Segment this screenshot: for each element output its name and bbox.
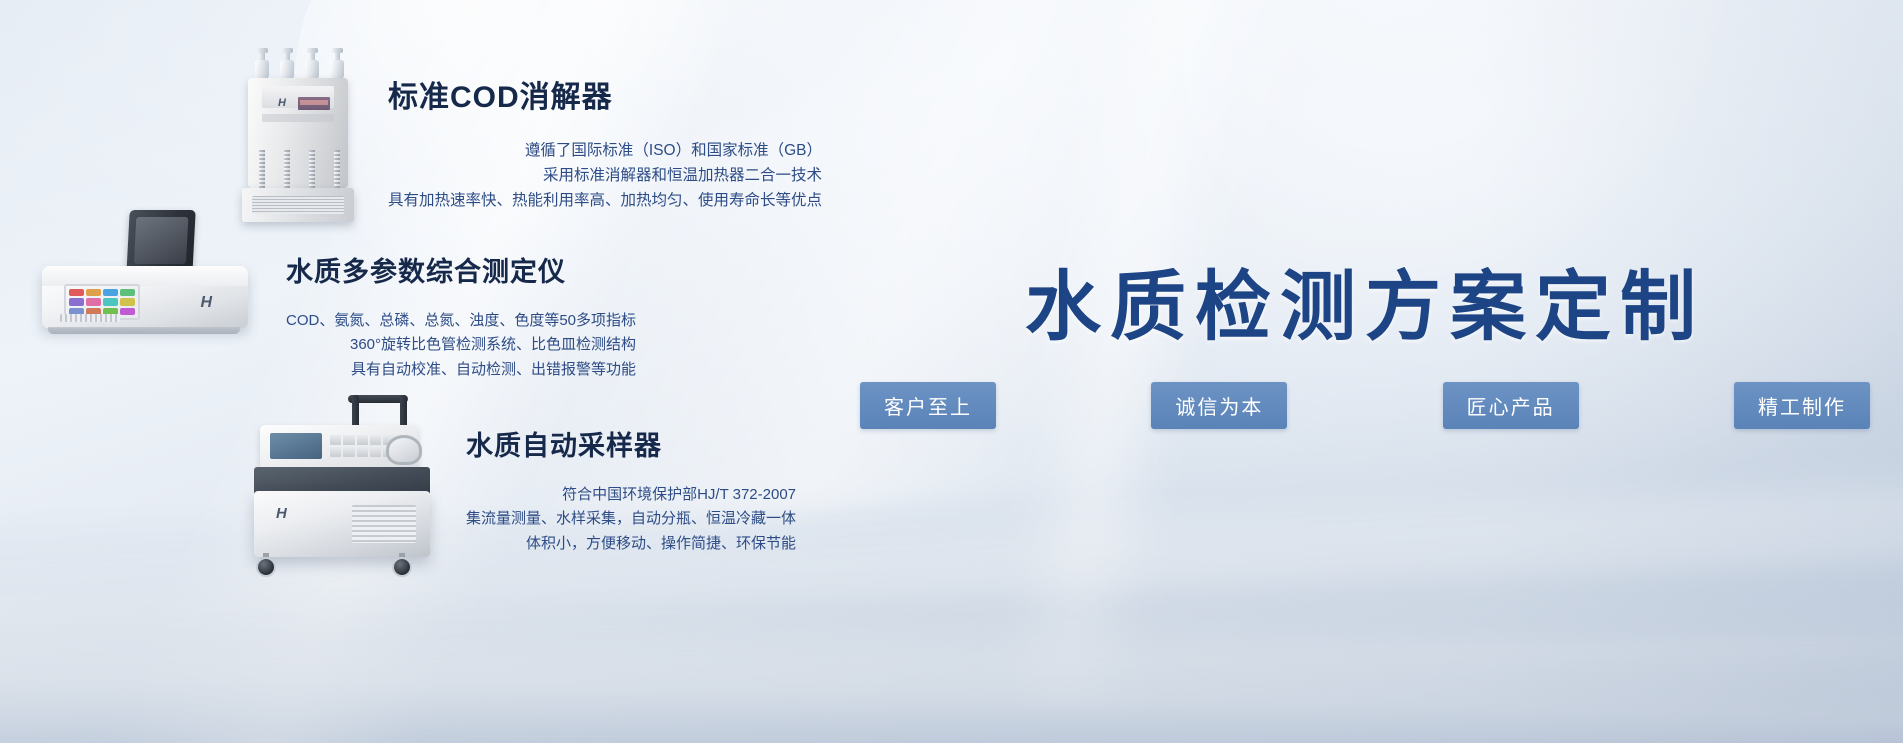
product-description: COD、氨氮、总磷、总氮、浊度、色度等50多项指标 360°旋转比色管检测系统、…	[286, 309, 636, 382]
sampler-display-screen	[270, 433, 322, 459]
product-block-multiparameter-analyzer: 水质多参数综合测定仪 COD、氨氮、总磷、总氮、浊度、色度等50多项指标 360…	[286, 250, 636, 382]
product-description: 遵循了国际标准（ISO）和国家标准（GB） 采用标准消解器和恒温加热器二合一技术…	[388, 138, 822, 213]
cod-display-screen	[298, 97, 330, 110]
slogan-tag-customer-first[interactable]: 客户至上	[860, 382, 996, 429]
right-shade	[1483, 0, 1903, 743]
product-description-line: 具有自动校准、自动检测、出错报警等功能	[286, 358, 636, 382]
digestion-tube	[330, 48, 344, 80]
product-description-line: 具有加热速率快、热能利用率高、加热均匀、使用寿命长等优点	[388, 188, 822, 213]
wave-3	[0, 589, 1903, 743]
auto-water-sampler-image: H	[240, 395, 450, 575]
analyzer-body: H	[42, 266, 248, 328]
slogan-tag-fine-manufacturing[interactable]: 精工制作	[1734, 382, 1870, 429]
multiparameter-analyzer-image: H	[30, 210, 260, 340]
product-description: 符合中国环境保护部HJ/T 372-2007 集流量测量、水样采集，自动分瓶、恒…	[466, 483, 796, 556]
banner-headline: 水质检测方案定制	[860, 245, 1870, 355]
wave-2	[0, 581, 1903, 743]
analyzer-top-surface	[42, 266, 248, 286]
cod-digester-image: H	[238, 48, 358, 218]
sampler-caster-wheel	[256, 557, 276, 577]
cod-vent-grille	[252, 196, 344, 214]
brand-logo-mark: H	[200, 294, 212, 312]
product-title: 水质多参数综合测定仪	[286, 250, 636, 289]
product-description-line: 符合中国环境保护部HJ/T 372-2007	[466, 483, 796, 507]
product-description-line: COD、氨氮、总磷、总氮、浊度、色度等50多项指标	[286, 309, 636, 333]
analyzer-base	[48, 327, 240, 334]
slogan-tag-list: 客户至上 诚信为本 匠心产品 精工制作	[860, 382, 1870, 429]
product-block-cod-digester: 标准COD消解器 遵循了国际标准（ISO）和国家标准（GB） 采用标准消解器和恒…	[388, 72, 822, 213]
sampler-refrigerated-cabinet: H	[254, 491, 430, 557]
slogan-tag-integrity[interactable]: 诚信为本	[1151, 382, 1287, 429]
water-quality-banner: H H	[0, 0, 1903, 743]
sampler-peristaltic-pump	[386, 435, 422, 465]
product-title: 水质自动采样器	[466, 424, 796, 463]
product-description-line: 采用标准消解器和恒温加热器二合一技术	[388, 163, 822, 188]
product-block-auto-water-sampler: 水质自动采样器 符合中国环境保护部HJ/T 372-2007 集流量测量、水样采…	[466, 424, 796, 556]
sampler-vent-grille	[352, 505, 416, 543]
sampler-caster-wheel	[392, 557, 412, 577]
product-description-line: 360°旋转比色管检测系统、比色皿检测结构	[286, 333, 636, 357]
analyzer-vents	[60, 314, 120, 322]
digestion-tube	[305, 48, 319, 80]
brand-logo-mark: H	[278, 97, 292, 111]
digestion-tube	[255, 48, 269, 80]
digestion-tube	[280, 48, 294, 80]
brand-logo-mark: H	[276, 505, 287, 522]
cod-control-panel: H	[262, 86, 334, 108]
cod-label-strip	[262, 114, 334, 122]
product-description-line: 集流量测量、水样采集，自动分瓶、恒温冷藏一体	[466, 507, 796, 531]
product-title: 标准COD消解器	[388, 72, 822, 116]
light-sweep-3	[696, 0, 1587, 743]
product-description-line: 遵循了国际标准（ISO）和国家标准（GB）	[388, 138, 822, 163]
product-description-line: 体积小，方便移动、操作简捷、环保节能	[466, 532, 796, 556]
slogan-tag-craftsmanship[interactable]: 匠心产品	[1443, 382, 1579, 429]
